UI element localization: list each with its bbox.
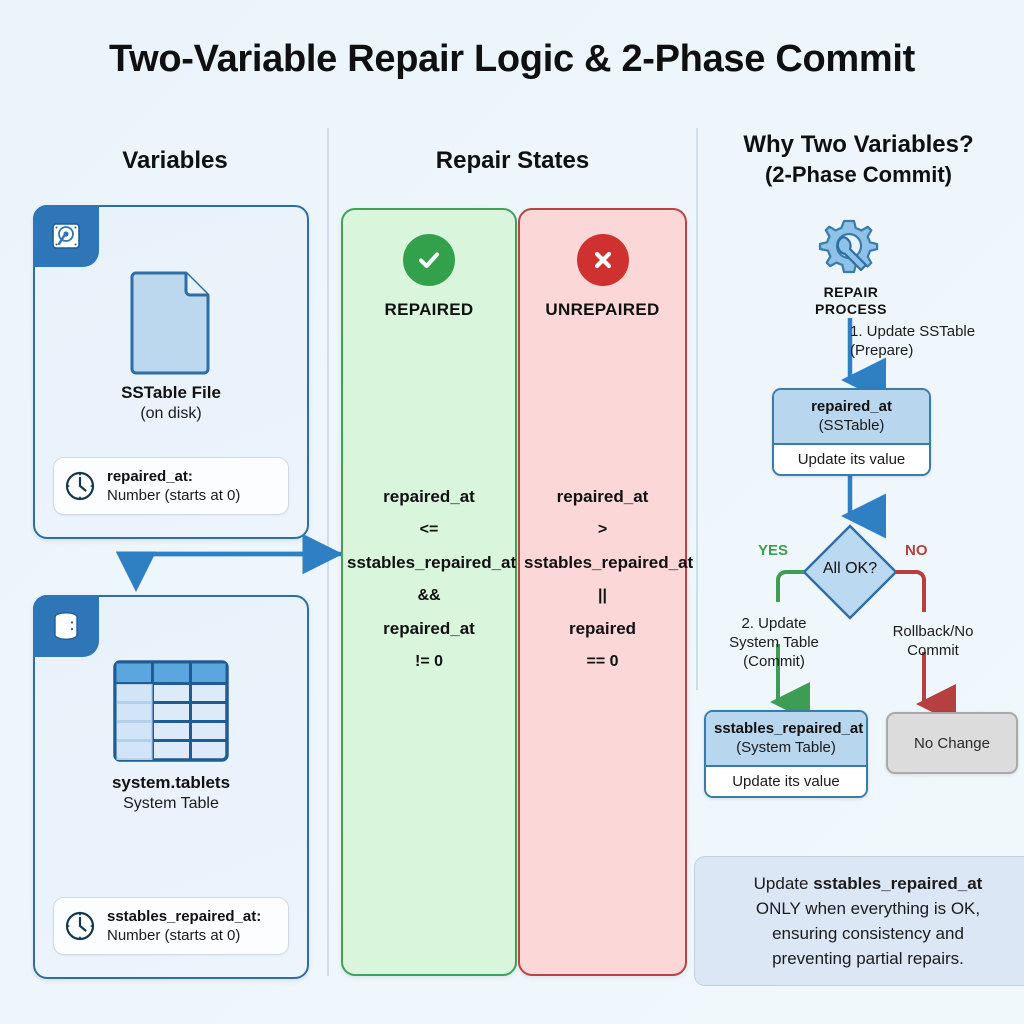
hard-drive-icon xyxy=(33,205,99,267)
sstable-card-title: SSTable File xyxy=(121,383,221,403)
node-systable-head: sstables_repaired_at (System Table) xyxy=(706,712,866,765)
system-table-card-subtitle: System Table xyxy=(123,795,219,813)
repair-process-label: REPAIR PROCESS xyxy=(796,284,906,318)
cond-line: repaired_at xyxy=(347,612,511,645)
note-rest: ONLY when everything is OK, ensuring con… xyxy=(756,899,980,968)
system-table-card-title: system.tablets xyxy=(112,773,230,793)
sstables-repaired-at-pill: sstables_repaired_at: Number (starts at … xyxy=(53,897,289,955)
node-systable-body: Update its value xyxy=(706,765,866,796)
node-systable-sub: (System Table) xyxy=(714,738,858,757)
node-sstables-repaired-at-system-table: sstables_repaired_at (System Table) Upda… xyxy=(704,710,868,798)
state-label-repaired: REPAIRED xyxy=(385,300,474,320)
cond-line: != 0 xyxy=(347,645,511,678)
cond-line: repaired_at xyxy=(524,480,681,513)
table-icon xyxy=(112,659,230,763)
note-bold-term: sstables_repaired_at xyxy=(813,874,982,893)
cond-line: <= xyxy=(347,513,511,546)
state-panel-repaired: REPAIRED repaired_at <= sstables_repaire… xyxy=(341,208,517,976)
state-label-unrepaired: UNREPAIRED xyxy=(545,300,659,320)
sstable-card-subtitle: (on disk) xyxy=(140,405,201,423)
cond-line: sstables_repaired_at xyxy=(524,546,681,579)
repaired-at-pill-text: repaired_at: Number (starts at 0) xyxy=(107,467,240,505)
column-heading-states: Repair States xyxy=(340,146,685,176)
node-repaired-at-sstable: repaired_at (SSTable) Update its value xyxy=(772,388,931,476)
edge-label-prepare: 1. Update SSTable (Prepare) xyxy=(850,322,1024,360)
branch-label-yes: YES xyxy=(758,542,788,559)
edge-label-rollback: Rollback/No Commit xyxy=(872,622,994,660)
node-systable-key: sstables_repaired_at xyxy=(714,719,858,738)
repair-process-line1: REPAIR xyxy=(824,284,879,300)
check-circle-icon xyxy=(403,234,455,286)
node-sstable-key: repaired_at xyxy=(782,397,921,416)
node-no-change: No Change xyxy=(886,712,1018,774)
sstables-repaired-at-pill-text: sstables_repaired_at: Number (starts at … xyxy=(107,907,261,945)
cond-line: repaired_at xyxy=(347,480,511,513)
column-divider-right xyxy=(696,128,698,690)
infographic-root: Two-Variable Repair Logic & 2-Phase Comm… xyxy=(0,0,1024,1024)
cond-line: && xyxy=(347,579,511,612)
variables-heading-text: Variables xyxy=(35,146,315,176)
cond-line: repaired xyxy=(524,612,681,645)
cond-line: > xyxy=(524,513,681,546)
variable-card-system-table: system.tablets System Table sstables_rep… xyxy=(33,595,309,979)
repaired-at-pill: repaired_at: Number (starts at 0) xyxy=(53,457,289,515)
column-heading-variables: Variables xyxy=(35,146,315,176)
summary-note: Update sstables_repaired_at ONLY when ev… xyxy=(694,856,1024,986)
column-heading-why: Why Two Variables? (2-Phase Commit) xyxy=(706,130,1011,190)
cond-line: == 0 xyxy=(524,645,681,678)
clock-icon xyxy=(64,910,96,942)
repaired-at-pill-value: Number (starts at 0) xyxy=(107,486,240,505)
branch-label-no: NO xyxy=(905,542,928,559)
state-panel-unrepaired: UNREPAIRED repaired_at > sstables_repair… xyxy=(518,208,687,976)
why-heading-line2: (2-Phase Commit) xyxy=(706,160,1011,190)
cond-line: sstables_repaired_at xyxy=(347,546,511,579)
x-circle-icon xyxy=(577,234,629,286)
edge-label-commit: 2. Update System Table (Commit) xyxy=(710,614,838,671)
cond-line: || xyxy=(524,579,681,612)
database-icon xyxy=(33,595,99,657)
why-heading-line1: Why Two Variables? xyxy=(706,130,1011,160)
clock-icon xyxy=(64,470,96,502)
repaired-at-pill-key: repaired_at: xyxy=(107,467,240,486)
decision-all-ok: All OK? xyxy=(804,560,896,578)
file-icon xyxy=(128,269,214,373)
repair-process-line2: PROCESS xyxy=(815,301,887,317)
sstables-repaired-at-pill-key: sstables_repaired_at: xyxy=(107,907,261,926)
node-sstable-head: repaired_at (SSTable) xyxy=(774,390,929,443)
note-prefix: Update xyxy=(754,874,814,893)
gear-wrench-icon xyxy=(815,215,883,283)
sstables-repaired-at-pill-value: Number (starts at 0) xyxy=(107,926,261,945)
node-sstable-sub: (SSTable) xyxy=(782,416,921,435)
condition-unrepaired: repaired_at > sstables_repaired_at || re… xyxy=(524,480,681,678)
states-heading-text: Repair States xyxy=(340,146,685,176)
variable-card-sstable: SSTable File (on disk) repaired_at: Numb… xyxy=(33,205,309,539)
page-title: Two-Variable Repair Logic & 2-Phase Comm… xyxy=(0,38,1024,81)
condition-repaired: repaired_at <= sstables_repaired_at && r… xyxy=(347,480,511,678)
node-sstable-body: Update its value xyxy=(774,443,929,474)
